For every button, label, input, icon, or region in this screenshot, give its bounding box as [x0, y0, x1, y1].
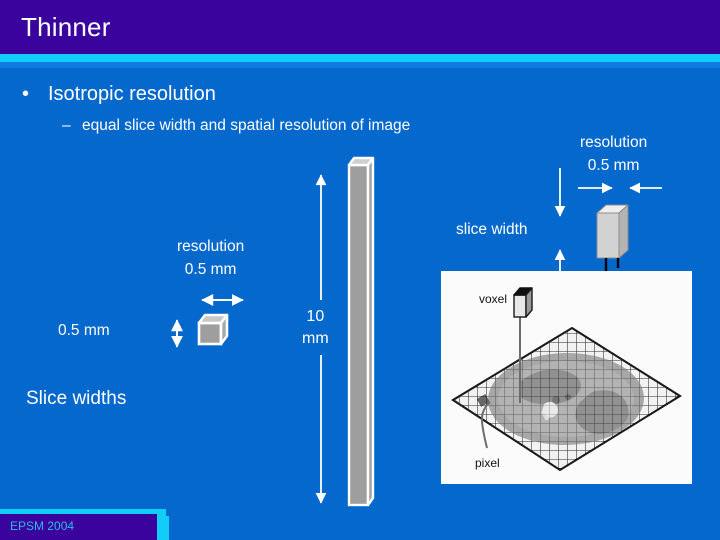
- inset-figure-panel: voxel pixel: [441, 271, 692, 484]
- left-voxel-cube: [199, 315, 227, 344]
- slide-canvas: Thinner •Isotropic resolution –equal sli…: [0, 0, 720, 540]
- inset-voxel-label: voxel: [479, 292, 507, 306]
- footer-label: EPSM 2004: [10, 519, 74, 533]
- inset-pixel-label: pixel: [475, 456, 500, 470]
- center-slab-10mm: [349, 158, 373, 505]
- diagram-graphics-layer: voxel pixel: [0, 0, 720, 540]
- right-voxel-box: [597, 205, 628, 258]
- footer-cyan-tab: [155, 516, 169, 540]
